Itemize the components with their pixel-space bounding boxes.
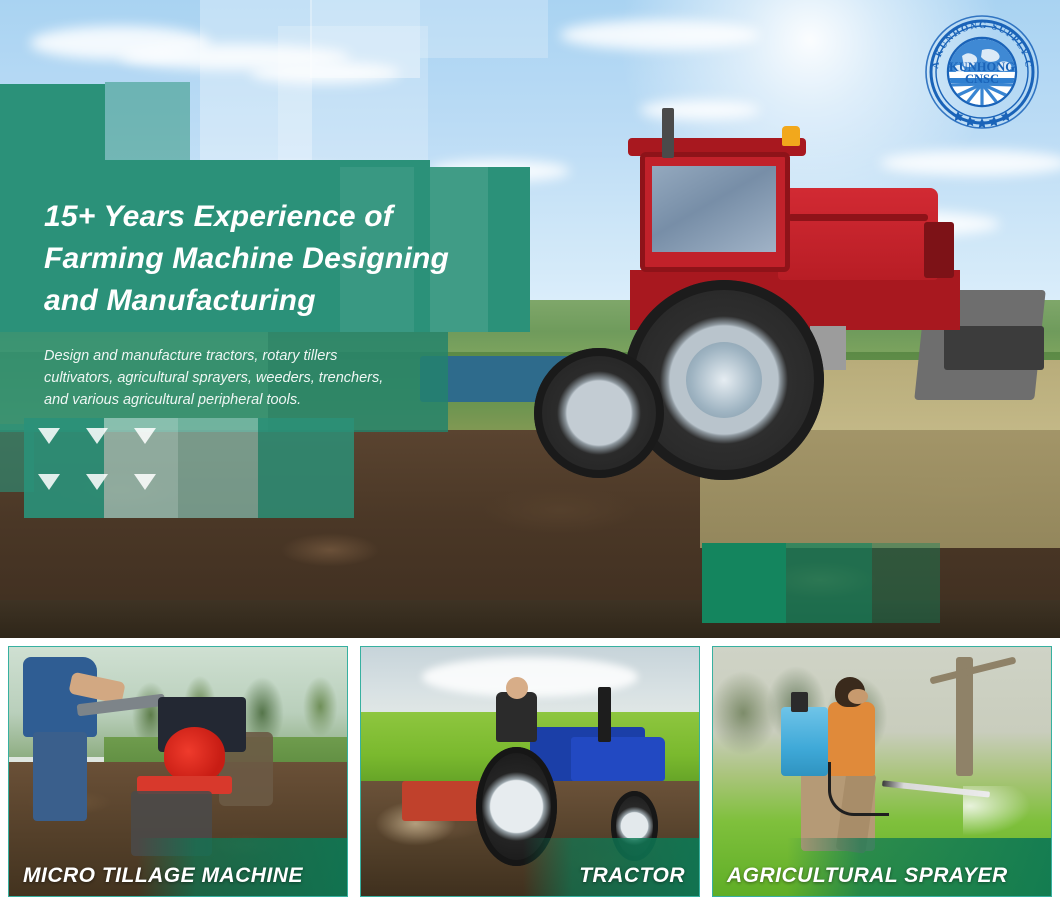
product-card-label: MICRO TILLAGE MACHINE xyxy=(9,864,347,888)
headline-line-3: and Manufacturing xyxy=(44,284,316,317)
subtext-line-3: and various agricultural peripheral tool… xyxy=(44,392,301,408)
headline-line-1: 15+ Years Experience of xyxy=(44,200,393,233)
page-title: 15+ Years Experience of Farming Machine … xyxy=(44,196,524,322)
tractor-beacon-light xyxy=(782,126,800,146)
photo-driver-body xyxy=(496,692,537,742)
cloud xyxy=(640,100,760,120)
logo-center-line-2: CNSC xyxy=(965,72,999,86)
decor-block-white-b xyxy=(178,418,258,518)
hero-banner: 15+ Years Experience of Farming Machine … xyxy=(0,0,1060,638)
photo-tiller-engine-red xyxy=(164,727,225,782)
photo-sprayer-pump-handle xyxy=(791,692,808,712)
photo-operator-legs xyxy=(33,732,87,822)
tractor-hood-stripe xyxy=(788,214,928,221)
decor-green-block-1 xyxy=(702,543,786,623)
subtext-line-1: Design and manufacture tractors, rotary … xyxy=(44,348,337,364)
tractor-front-wheel xyxy=(534,348,664,478)
triangle-down-icon xyxy=(38,474,60,490)
triangle-down-icon xyxy=(86,428,108,444)
tractor-grille xyxy=(924,222,954,278)
tractor-exhaust-pipe xyxy=(662,108,674,158)
decor-block-green-right xyxy=(258,418,354,518)
photo-tractor-exhaust xyxy=(598,687,612,742)
mosaic-tile-white-faint xyxy=(420,0,548,58)
hero-description: Design and manufacture tractors, rotary … xyxy=(44,345,474,411)
product-card-label: AGRICULTURAL SPRAYER xyxy=(713,864,1051,888)
tractor-hitch-frame xyxy=(944,326,1044,370)
triangle-down-icon xyxy=(38,428,60,444)
product-card-micro-tillage-machine[interactable]: MICRO TILLAGE MACHINE xyxy=(8,646,348,897)
headline-line-2: Farming Machine Designing xyxy=(44,242,449,275)
tractor-windshield xyxy=(652,166,776,252)
mosaic-tile-white-small xyxy=(310,0,420,78)
decor-green-block-2 xyxy=(786,543,872,623)
triangle-down-icon xyxy=(134,428,156,444)
product-card-tractor[interactable]: TRACTOR xyxy=(360,646,700,897)
photo-knapsack-sprayer-tank xyxy=(781,707,828,777)
cloud xyxy=(560,20,760,50)
triangle-decor-grid xyxy=(38,428,168,502)
photo-tractor-hood xyxy=(571,737,666,782)
product-card-agricultural-sprayer[interactable]: AGRICULTURAL SPRAYER xyxy=(712,646,1052,897)
kunhong-seal-icon: KUNHONG CNSC CHINA KUNHONG SUPPLY CHAIN xyxy=(922,12,1042,132)
company-logo[interactable]: KUNHONG CNSC CHINA KUNHONG SUPPLY CHAIN xyxy=(922,12,1042,132)
triangle-down-icon xyxy=(86,474,108,490)
photo-sprayer-hose xyxy=(828,762,889,817)
triangle-down-icon xyxy=(134,474,156,490)
subtext-line-2: cultivators, agricultural sprayers, weed… xyxy=(44,370,383,386)
product-card-row: MICRO TILLAGE MACHINE TRACTOR xyxy=(0,638,1060,903)
photo-rotary-tiller xyxy=(402,781,483,821)
product-card-label: TRACTOR xyxy=(361,864,699,888)
mosaic-tile-teal-solid xyxy=(0,84,105,168)
tractor-hood xyxy=(778,188,938,280)
tractor-illustration xyxy=(520,130,1060,520)
decor-green-block-3 xyxy=(872,543,940,623)
mosaic-tile-teal-translucent xyxy=(105,82,190,168)
